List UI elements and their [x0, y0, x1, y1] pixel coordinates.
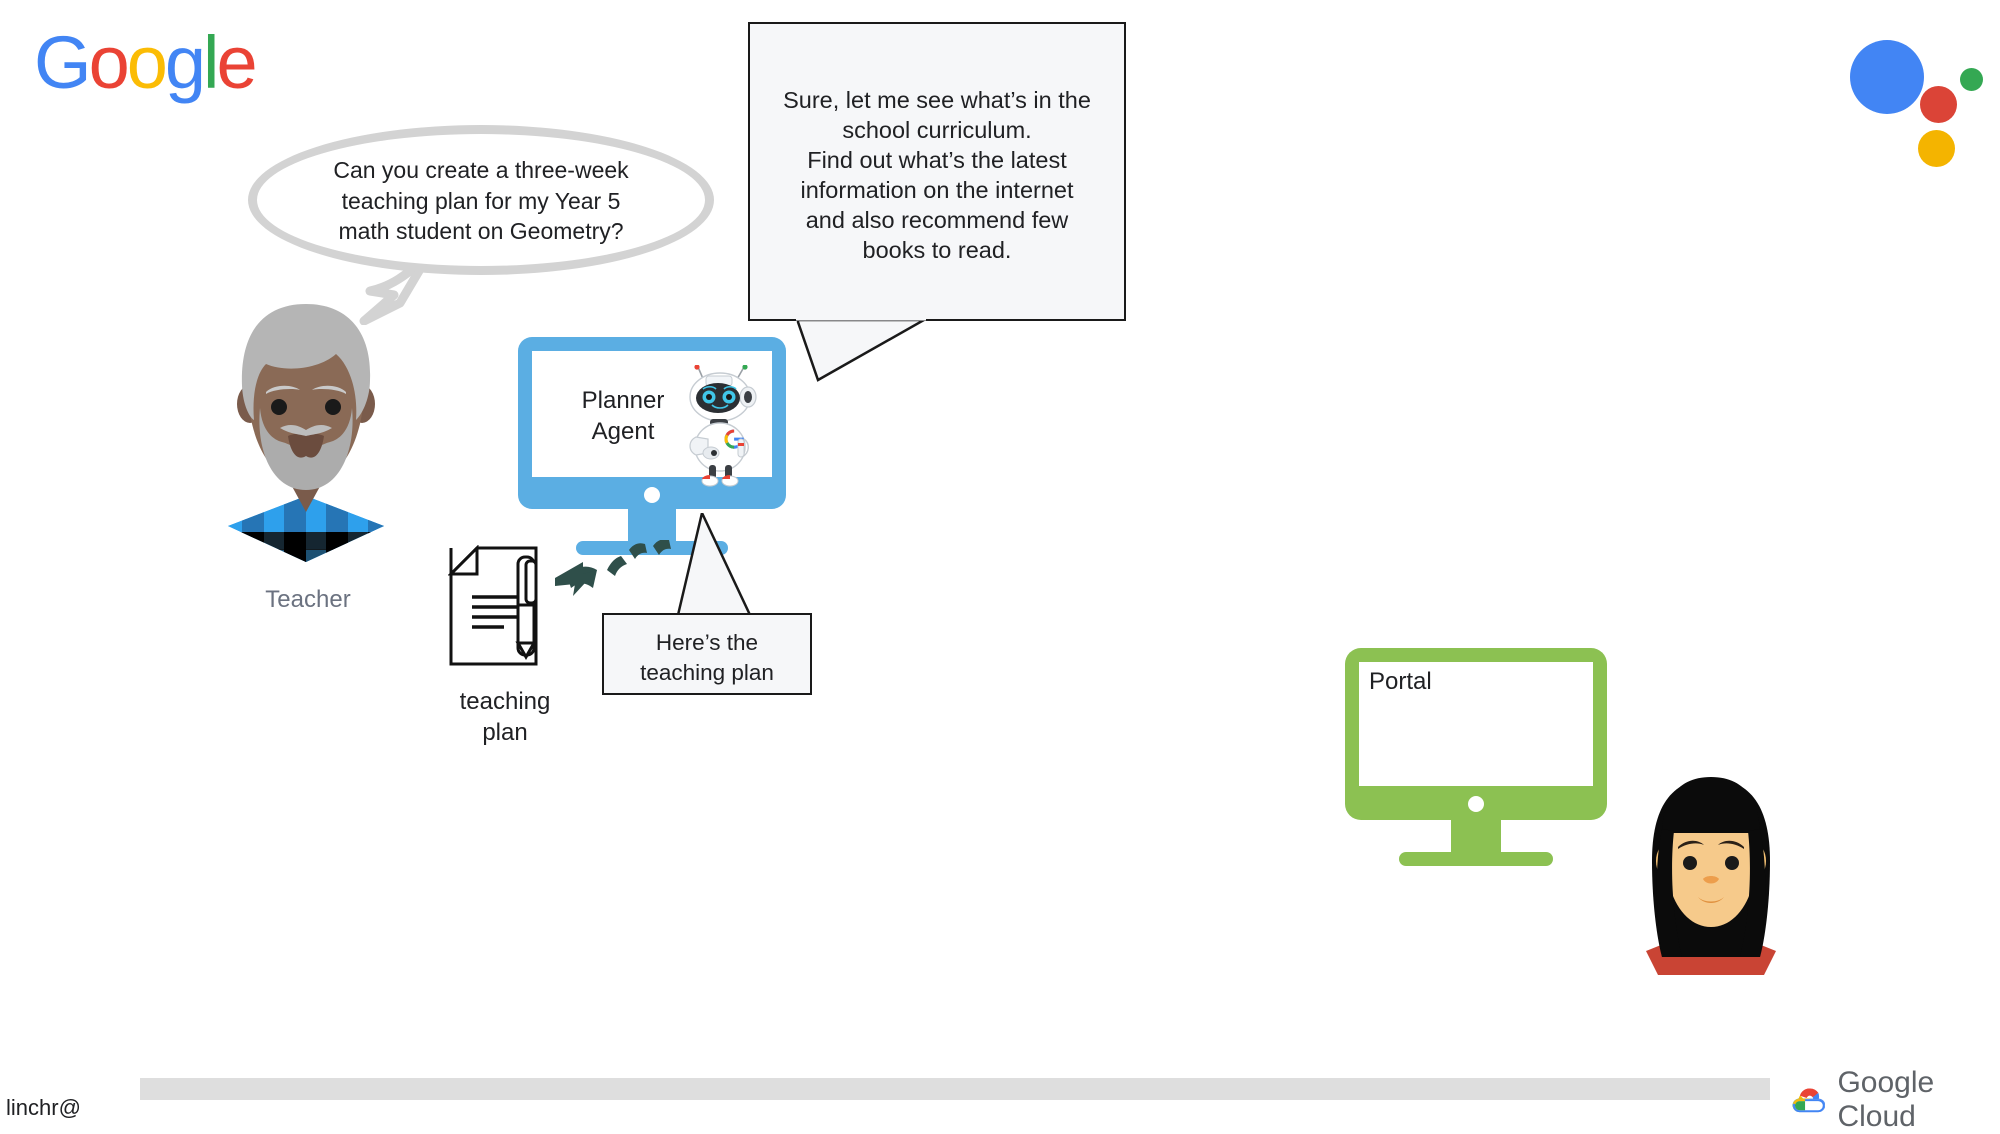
assistant-dot-yellow-icon — [1918, 130, 1955, 167]
assistant-dot-red-icon — [1920, 86, 1957, 123]
google-logo-letter-g2: g — [165, 26, 203, 100]
google-cloud-wordmark: Google Cloud — [1837, 1066, 2000, 1134]
robot-mascot-icon — [678, 365, 764, 487]
teacher-label: Teacher — [180, 586, 436, 614]
footer-author-handle: linchr@ — [6, 1095, 81, 1121]
portal-screen-label: Portal — [1369, 668, 1432, 696]
google-logo: Google — [34, 26, 255, 100]
agent-speech-bubble-tail — [796, 318, 926, 384]
google-logo-letter-e: e — [216, 26, 254, 100]
delivery-speech-bubble: Here’s the teaching plan — [602, 613, 812, 695]
assistant-dot-green-icon — [1960, 68, 1983, 91]
google-cloud-mark-icon — [1790, 1083, 1825, 1117]
google-logo-letter-o2: o — [127, 26, 165, 100]
agent-speech-bubble-text: Sure, let me see what’s in the school cu… — [762, 85, 1112, 265]
planner-agent-screen-label: Planner Agent — [560, 385, 686, 447]
google-logo-letter-o1: o — [89, 26, 127, 100]
student-avatar — [1640, 775, 1782, 975]
footer-progress-bar — [140, 1078, 1770, 1100]
delivery-speech-bubble-text: Here’s the teaching plan — [608, 628, 806, 688]
agent-speech-bubble: Sure, let me see what’s in the school cu… — [748, 22, 1126, 321]
assistant-dot-blue-icon — [1850, 40, 1924, 114]
google-logo-letter-l: l — [203, 26, 216, 100]
google-cloud-logo: Google Cloud — [1790, 1082, 2000, 1118]
google-logo-letter-g1: G — [34, 26, 89, 100]
google-assistant-dots-icon — [1850, 30, 1970, 150]
delivery-speech-bubble-tail — [676, 513, 754, 617]
slide-canvas: Google Can you create a three-week teach… — [0, 0, 2000, 1123]
teaching-plan-document-icon — [448, 545, 558, 667]
teacher-speech-bubble-text: Can you create a three-week teaching pla… — [248, 155, 714, 247]
teacher-speech-bubble: Can you create a three-week teaching pla… — [248, 125, 714, 275]
teaching-plan-label: teaching plan — [420, 686, 590, 748]
teacher-avatar — [222, 300, 390, 562]
